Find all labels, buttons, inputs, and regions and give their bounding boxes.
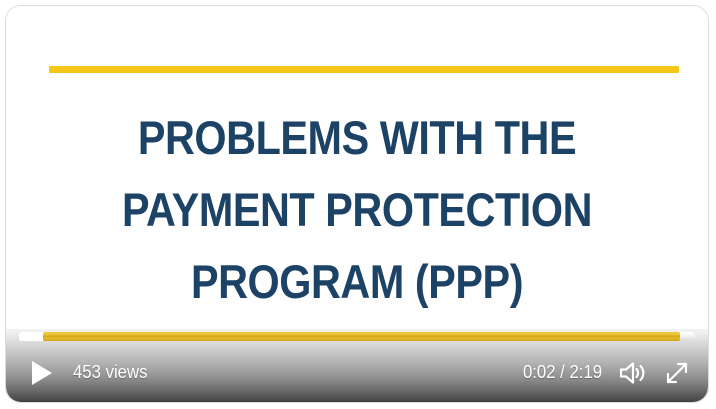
control-right-group: 0:02 / 2:19 [517, 360, 690, 386]
fullscreen-icon[interactable] [664, 360, 690, 386]
volume-icon[interactable] [618, 360, 664, 386]
control-left-group: 453 views [28, 359, 153, 387]
video-player[interactable]: PROBLEMS WITH THE PAYMENT PROTECTION PRO… [5, 5, 709, 403]
video-slide-area[interactable]: PROBLEMS WITH THE PAYMENT PROTECTION PRO… [6, 6, 708, 329]
play-button[interactable] [28, 359, 54, 387]
view-count-label: 453 views [73, 362, 147, 383]
progress-scrubber[interactable] [6, 329, 708, 343]
slide-title-line-1: PROBLEMS WITH THE [80, 102, 634, 174]
title-accent-rule [49, 66, 679, 73]
time-display: 0:02 / 2:19 [523, 362, 602, 383]
control-row: 453 views 0:02 / 2:19 [6, 343, 708, 402]
progress-buffered [43, 332, 680, 341]
progress-played [19, 332, 43, 341]
slide-title: PROBLEMS WITH THE PAYMENT PROTECTION PRO… [80, 102, 634, 318]
slide-title-line-2: PAYMENT PROTECTION [80, 174, 634, 246]
slide-title-line-3: PROGRAM (PPP) [80, 246, 634, 318]
player-control-bar[interactable]: 453 views 0:02 / 2:19 [6, 329, 708, 402]
